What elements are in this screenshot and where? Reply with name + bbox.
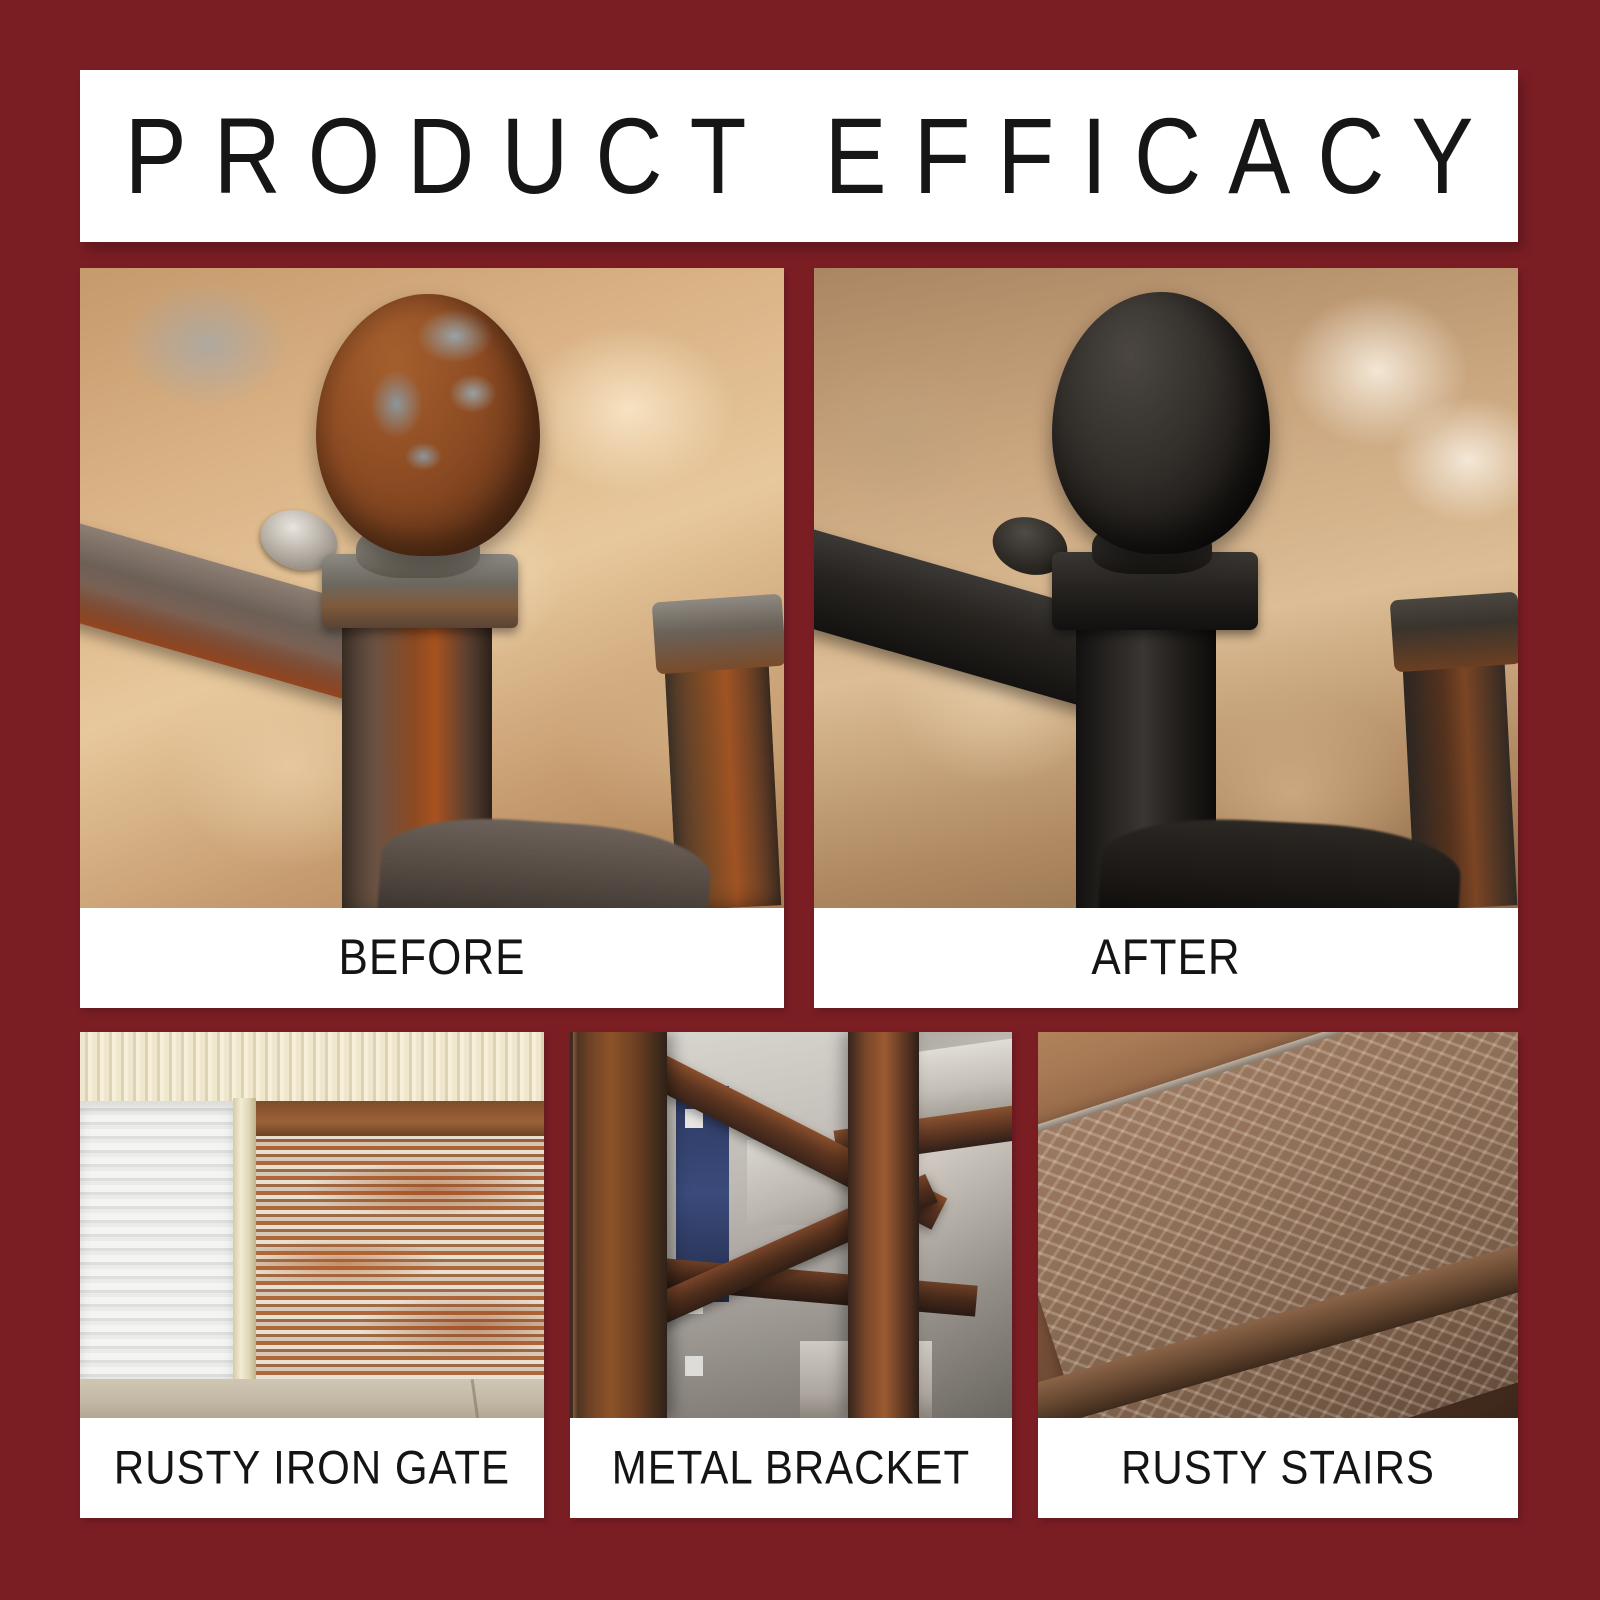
after-ball-finial bbox=[1052, 292, 1270, 554]
gate-rusted-door-header bbox=[256, 1101, 544, 1136]
before-ball-finial bbox=[316, 294, 540, 556]
rusty-iron-gate-photo bbox=[80, 1032, 544, 1418]
before-ball-shading bbox=[316, 294, 540, 556]
bracket-window-lower bbox=[685, 1356, 703, 1375]
after-caption-bar: AFTER bbox=[814, 908, 1518, 1008]
before-photo bbox=[80, 268, 784, 908]
rusty-stairs-photo bbox=[1038, 1032, 1518, 1418]
after-secondary-cap bbox=[1390, 592, 1518, 673]
header-card: PRODUCT EFFICACY bbox=[80, 70, 1518, 242]
rusty-stairs-caption-label: RUSTY STAIRS bbox=[1121, 1441, 1435, 1495]
before-caption-label: BEFORE bbox=[339, 930, 526, 987]
before-card[interactable]: BEFORE bbox=[80, 268, 784, 1008]
metal-bracket-photo bbox=[570, 1032, 1012, 1418]
after-base bbox=[1097, 813, 1462, 908]
before-caption-bar: BEFORE bbox=[80, 908, 784, 1008]
bracket-column-right bbox=[848, 1032, 919, 1418]
before-base bbox=[377, 811, 714, 908]
gate-clean-door bbox=[80, 1101, 233, 1379]
gate-corrugated-wall bbox=[80, 1032, 544, 1101]
rusty-iron-gate-caption-bar: RUSTY IRON GATE bbox=[80, 1418, 544, 1518]
gate-door-jamb bbox=[233, 1098, 256, 1384]
metal-bracket-caption-label: METAL BRACKET bbox=[612, 1441, 970, 1495]
bracket-column-left-highlight bbox=[573, 1032, 578, 1418]
bracket-column-left bbox=[570, 1032, 667, 1418]
before-secondary-cap bbox=[652, 594, 784, 675]
metal-bracket-caption-bar: METAL BRACKET bbox=[570, 1418, 1012, 1518]
after-caption-label: AFTER bbox=[1091, 930, 1240, 987]
gate-rust-streaks bbox=[256, 1136, 544, 1379]
rusty-iron-gate-caption-label: RUSTY IRON GATE bbox=[114, 1441, 510, 1495]
bracket-window-upper bbox=[685, 1109, 703, 1128]
poster-root: PRODUCT EFFICACY BEFORE bbox=[0, 0, 1600, 1600]
after-card[interactable]: AFTER bbox=[814, 268, 1518, 1008]
gallery-card-metal-bracket[interactable]: METAL BRACKET bbox=[570, 1032, 1012, 1518]
gallery-card-rusty-iron-gate[interactable]: RUSTY IRON GATE bbox=[80, 1032, 544, 1518]
gallery-card-rusty-stairs[interactable]: RUSTY STAIRS bbox=[1038, 1032, 1518, 1518]
page-title: PRODUCT EFFICACY bbox=[98, 102, 1501, 210]
after-photo bbox=[814, 268, 1518, 908]
rusty-stairs-caption-bar: RUSTY STAIRS bbox=[1038, 1418, 1518, 1518]
